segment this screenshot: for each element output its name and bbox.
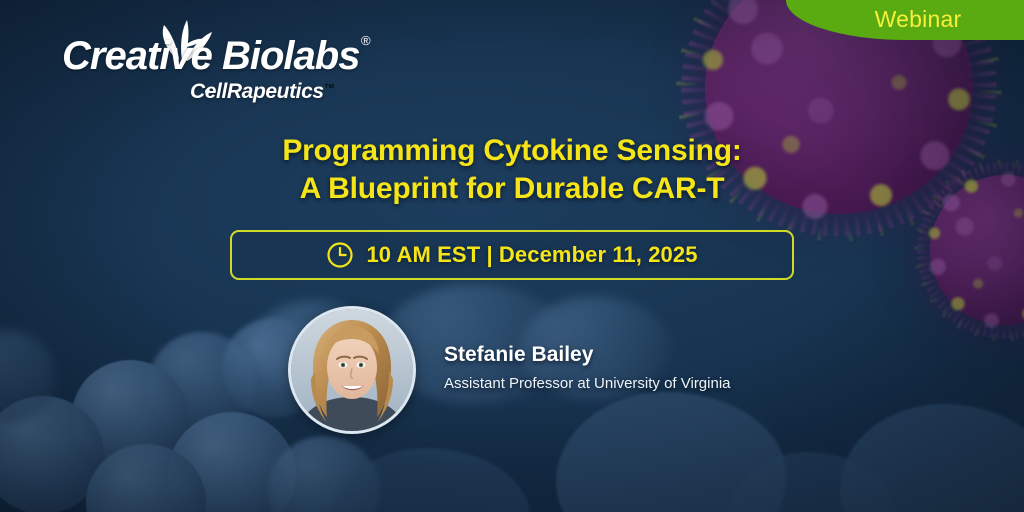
clock-icon [326,241,354,269]
speaker-photo [291,309,413,431]
speaker-details: Stefanie Bailey Assistant Professor at U… [444,343,731,397]
webinar-banner: Webinar Creative Biolabs ® CellRapeutics… [0,0,1024,512]
logo-subbrand-text: CellRapeutics [190,80,324,103]
title-line-2: A Blueprint for Durable CAR-T [0,170,1024,208]
registered-mark-icon: ® [361,34,371,47]
logo-dot-icon [205,89,210,94]
logo-brand-text: Creative Biolabs [62,36,359,76]
speaker-block: Stefanie Bailey Assistant Professor at U… [288,306,731,434]
trademark-mark-icon: ™ [324,83,335,95]
brand-logo[interactable]: Creative Biolabs ® CellRapeutics™ [62,22,382,105]
datetime-text: 10 AM EST | December 11, 2025 [366,244,697,266]
logo-sub-row: CellRapeutics™ [62,81,382,105]
webinar-badge-label: Webinar [875,8,962,33]
title-line-1: Programming Cytokine Sensing: [0,132,1024,170]
logo-primary-row: Creative Biolabs ® [62,22,382,80]
avatar [288,306,416,434]
webinar-title: Programming Cytokine Sensing: A Blueprin… [0,132,1024,209]
datetime-box: 10 AM EST | December 11, 2025 [230,230,794,280]
speaker-name: Stefanie Bailey [444,343,731,366]
speaker-role: Assistant Professor at University of Vir… [444,375,731,393]
